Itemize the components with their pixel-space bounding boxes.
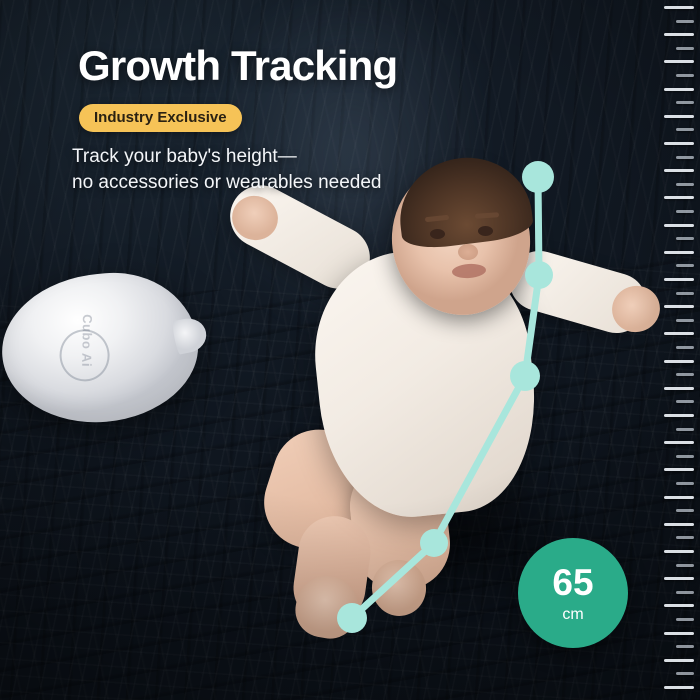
ruler-tick <box>676 74 694 77</box>
ruler-tick <box>664 60 694 63</box>
ruler-tick <box>676 509 694 512</box>
ruler-tick <box>664 88 694 91</box>
ruler-tick <box>664 224 694 227</box>
ruler-tick <box>664 496 694 499</box>
ruler-tick <box>676 672 694 675</box>
page-title: Growth Tracking <box>78 44 397 88</box>
ruler-tick <box>676 618 694 621</box>
height-measurement-badge: 65 cm <box>518 538 628 648</box>
ruler-tick <box>676 237 694 240</box>
ruler-tick <box>664 659 694 662</box>
promo-graphic: Cubo Ai Growth Tracking Industry Exclusi… <box>0 0 700 700</box>
ruler-tick <box>676 346 694 349</box>
ruler-tick <box>664 632 694 635</box>
ruler-tick <box>664 305 694 308</box>
ruler-tick <box>664 577 694 580</box>
ruler-tick <box>664 142 694 145</box>
ruler-tick <box>664 441 694 444</box>
ruler-tick <box>664 604 694 607</box>
ruler-tick <box>676 482 694 485</box>
ruler-tick <box>676 210 694 213</box>
ruler-tick <box>664 360 694 363</box>
ruler-tick <box>664 332 694 335</box>
ruler-tick <box>676 455 694 458</box>
ruler-tick <box>664 33 694 36</box>
ruler-tick <box>676 47 694 50</box>
ruler-tick <box>676 428 694 431</box>
ruler-tick <box>664 523 694 526</box>
ruler-tick <box>676 183 694 186</box>
ruler-tick <box>664 468 694 471</box>
ruler-tick <box>676 400 694 403</box>
ruler-tick <box>676 591 694 594</box>
ruler-tick <box>676 564 694 567</box>
ruler-tick <box>676 292 694 295</box>
ruler-tick <box>664 387 694 390</box>
ruler-tick <box>676 645 694 648</box>
ruler-tick <box>664 196 694 199</box>
ruler-tick <box>676 319 694 322</box>
measurement-unit: cm <box>562 607 583 623</box>
ruler-tick <box>664 550 694 553</box>
measuring-ruler <box>658 0 700 700</box>
subtitle-text: Track your baby's height— no accessories… <box>72 144 381 195</box>
ruler-tick <box>664 169 694 172</box>
status-badge: Industry Exclusive <box>79 104 242 132</box>
ruler-tick <box>676 264 694 267</box>
ruler-tick <box>676 128 694 131</box>
ruler-tick <box>664 115 694 118</box>
ruler-tick <box>676 101 694 104</box>
ruler-tick <box>664 6 694 9</box>
ruler-tick <box>676 373 694 376</box>
ruler-tick <box>664 686 694 689</box>
measurement-value: 65 <box>552 564 593 601</box>
ruler-tick <box>676 156 694 159</box>
ruler-tick <box>676 20 694 23</box>
device-brand-label: Cubo Ai <box>79 314 95 367</box>
ruler-tick <box>664 251 694 254</box>
ruler-tick <box>676 536 694 539</box>
ruler-tick <box>664 414 694 417</box>
ruler-tick <box>664 278 694 281</box>
